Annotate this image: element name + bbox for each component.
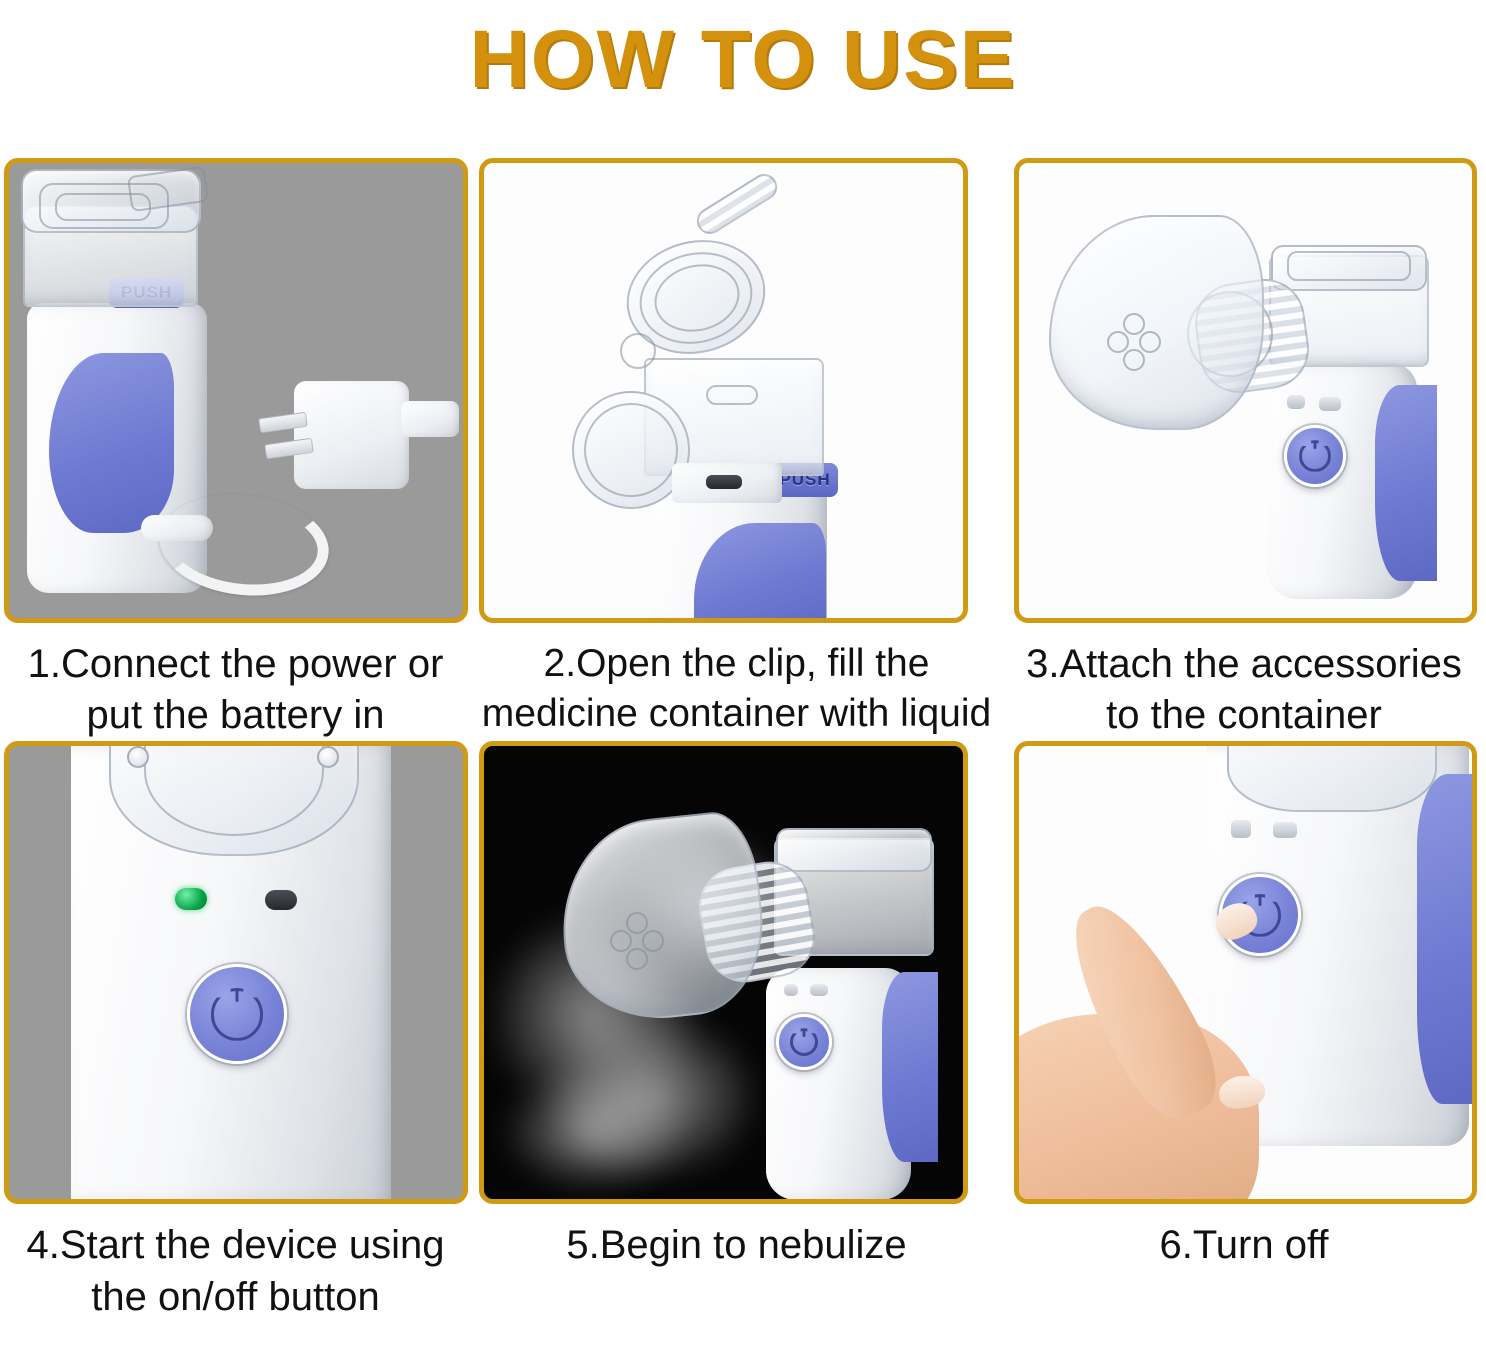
device-grip <box>882 972 938 1162</box>
vent-slot <box>706 475 742 489</box>
indicator-light-1 <box>784 984 798 996</box>
step-3-caption: 3.Attach the accessories to the containe… <box>1002 623 1486 741</box>
indicator-light-2 <box>1273 822 1297 838</box>
power-icon <box>1299 440 1330 471</box>
charger-usb-port <box>401 401 459 437</box>
power-button[interactable] <box>187 964 287 1064</box>
device-grip <box>1417 774 1477 1104</box>
step-6-image <box>1014 741 1477 1204</box>
step-5-caption: 5.Begin to nebulize <box>471 1204 1002 1271</box>
step-4-caption: 4.Start the device using the on/off butt… <box>0 1204 471 1322</box>
steps-grid: PUSH 1.Connect the power or put the batt… <box>0 158 1486 1323</box>
mask-vent-holes <box>1107 313 1161 367</box>
step-2: PUSH 2.Open the clip, fill the medicine … <box>471 158 1002 741</box>
step-4: 4.Start the device using the on/off butt… <box>0 741 471 1322</box>
lid-ring <box>1287 251 1411 281</box>
indicator-light-1 <box>1287 395 1305 409</box>
lid-hinge <box>620 333 656 369</box>
device-grip <box>1375 385 1437 581</box>
indicator-light-2 <box>1319 397 1341 411</box>
step-3-image <box>1014 158 1477 623</box>
page-title: HOW TO USE <box>470 19 1017 101</box>
power-button[interactable] <box>1284 425 1346 487</box>
power-button[interactable] <box>776 1014 832 1070</box>
step-3: 3.Attach the accessories to the containe… <box>1002 158 1486 741</box>
step-6-caption: 6.Turn off <box>1002 1204 1486 1271</box>
wall-charger <box>294 381 409 489</box>
step-2-caption: 2.Open the clip, fill the medicine conta… <box>471 623 1002 739</box>
step-6: 6.Turn off <box>1002 741 1486 1322</box>
container-marking <box>706 385 758 405</box>
nozzle-ring <box>584 403 678 497</box>
header: HOW TO USE <box>0 0 1486 120</box>
step-1: PUSH 1.Connect the power or put the batt… <box>0 158 471 741</box>
power-icon <box>211 988 264 1041</box>
device-grip <box>49 353 174 533</box>
indicator-light-2 <box>810 984 828 996</box>
status-led-green <box>175 888 207 910</box>
mask-vent-holes <box>610 912 664 966</box>
step-5-image <box>479 741 968 1204</box>
step-5: 5.Begin to nebulize <box>471 741 1002 1322</box>
step-1-caption: 1.Connect the power or put the battery i… <box>0 623 471 741</box>
step-1-image: PUSH <box>4 158 468 623</box>
container-lid <box>1227 741 1437 812</box>
container-lid <box>776 828 932 872</box>
indicator-light-1 <box>1231 820 1251 838</box>
step-4-image <box>4 741 468 1204</box>
cable-plug <box>141 515 213 541</box>
lid-clip-arm <box>692 169 782 239</box>
power-icon <box>790 1028 818 1056</box>
status-led-dark <box>265 890 297 910</box>
step-2-image: PUSH <box>479 158 968 623</box>
